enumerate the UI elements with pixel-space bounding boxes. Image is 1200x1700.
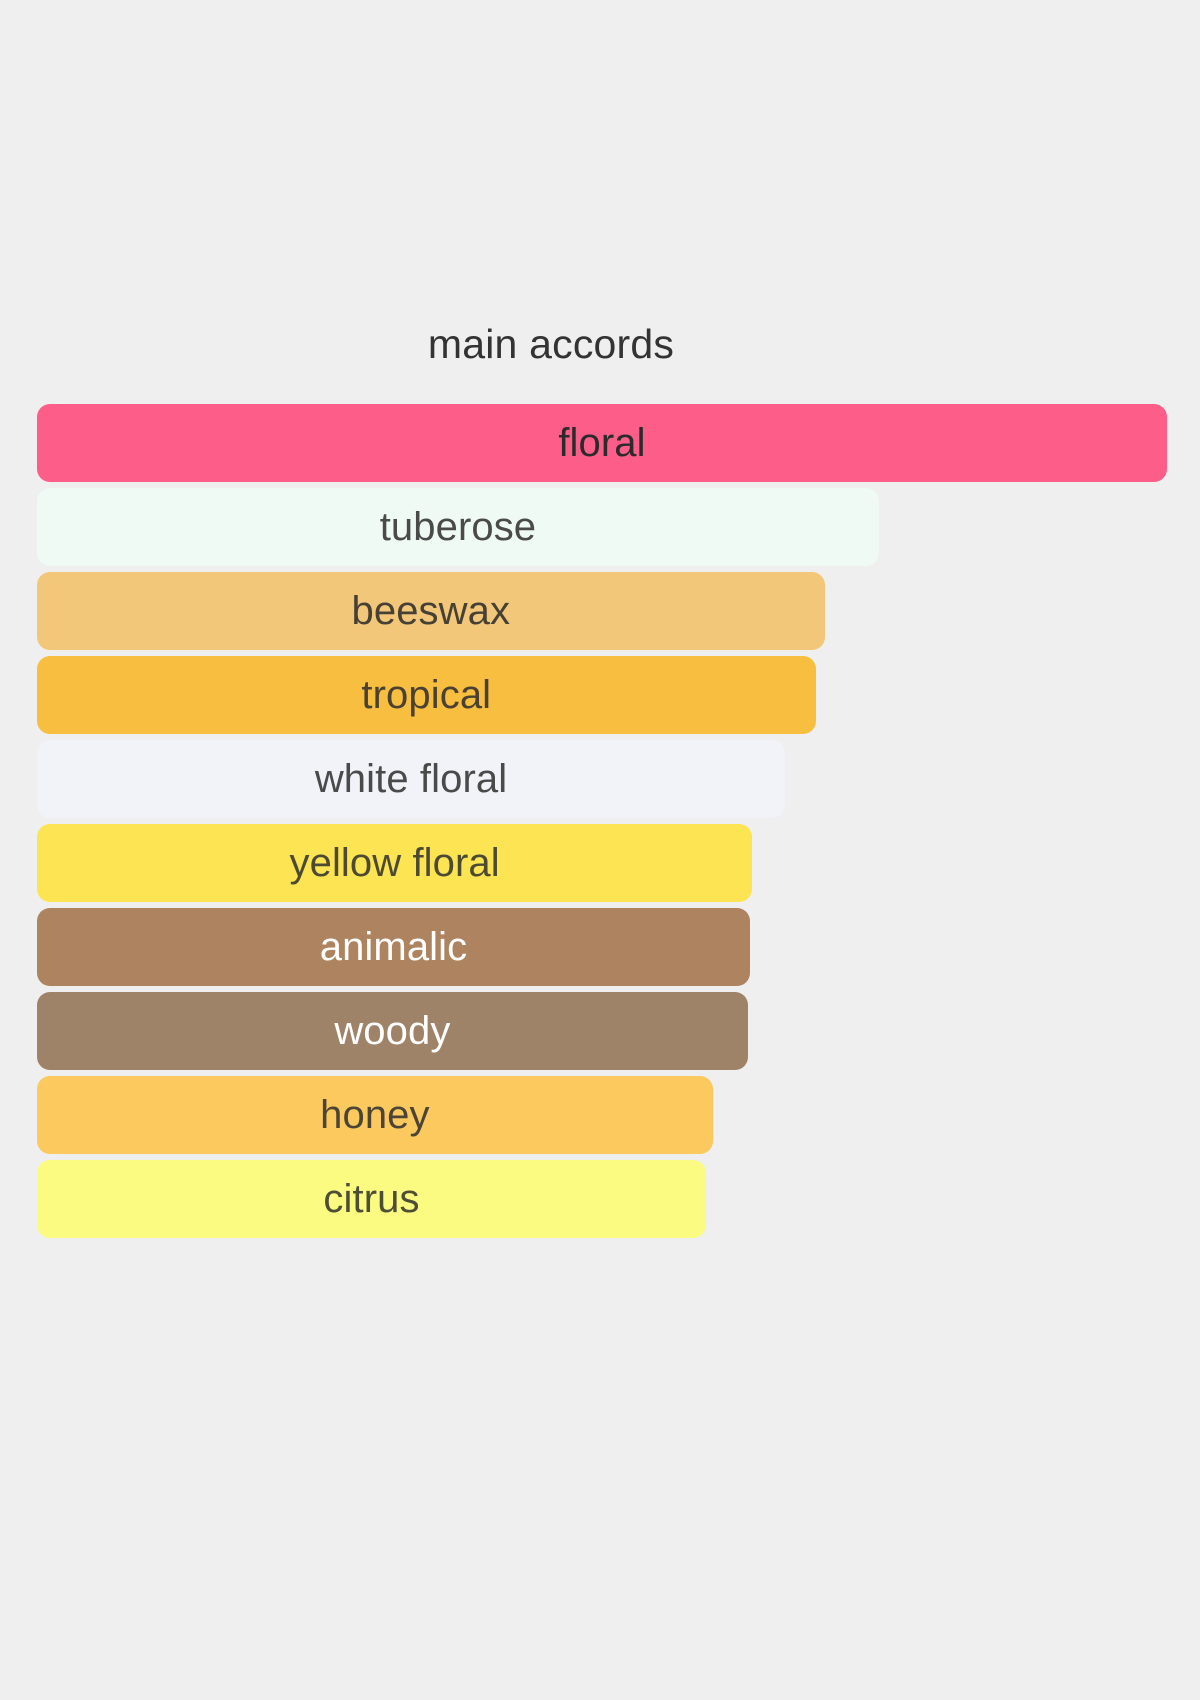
- accord-bar-floral[interactable]: floral: [37, 404, 1167, 482]
- accord-bar-label: white floral: [37, 756, 785, 802]
- accord-bar-label: tuberose: [37, 504, 879, 550]
- accord-bar-label: yellow floral: [37, 840, 752, 886]
- accord-bar-beeswax[interactable]: beeswax: [37, 572, 825, 650]
- accord-bar-label: beeswax: [37, 588, 825, 634]
- accord-bar-tuberose[interactable]: tuberose: [37, 488, 879, 566]
- accord-bar-label: honey: [37, 1092, 713, 1138]
- accord-bar-animalic[interactable]: animalic: [37, 908, 750, 986]
- accord-bar-label: floral: [37, 420, 1167, 466]
- accord-bar-woody[interactable]: woody: [37, 992, 748, 1070]
- accord-bar-citrus[interactable]: citrus: [37, 1160, 706, 1238]
- accord-bars-list: floraltuberosebeeswaxtropicalwhite flora…: [37, 404, 1167, 1244]
- accord-bar-honey[interactable]: honey: [37, 1076, 713, 1154]
- accord-bar-label: woody: [37, 1008, 748, 1054]
- accord-bar-label: citrus: [37, 1176, 706, 1222]
- accord-bar-label: tropical: [37, 672, 816, 718]
- accord-bar-tropical[interactable]: tropical: [37, 656, 816, 734]
- page-title: main accords: [37, 315, 1065, 373]
- accord-bar-white-floral[interactable]: white floral: [37, 740, 785, 818]
- accord-bar-label: animalic: [37, 924, 750, 970]
- main-accords-widget: main accords floraltuberosebeeswaxtropic…: [0, 0, 1200, 1700]
- accord-bar-yellow-floral[interactable]: yellow floral: [37, 824, 752, 902]
